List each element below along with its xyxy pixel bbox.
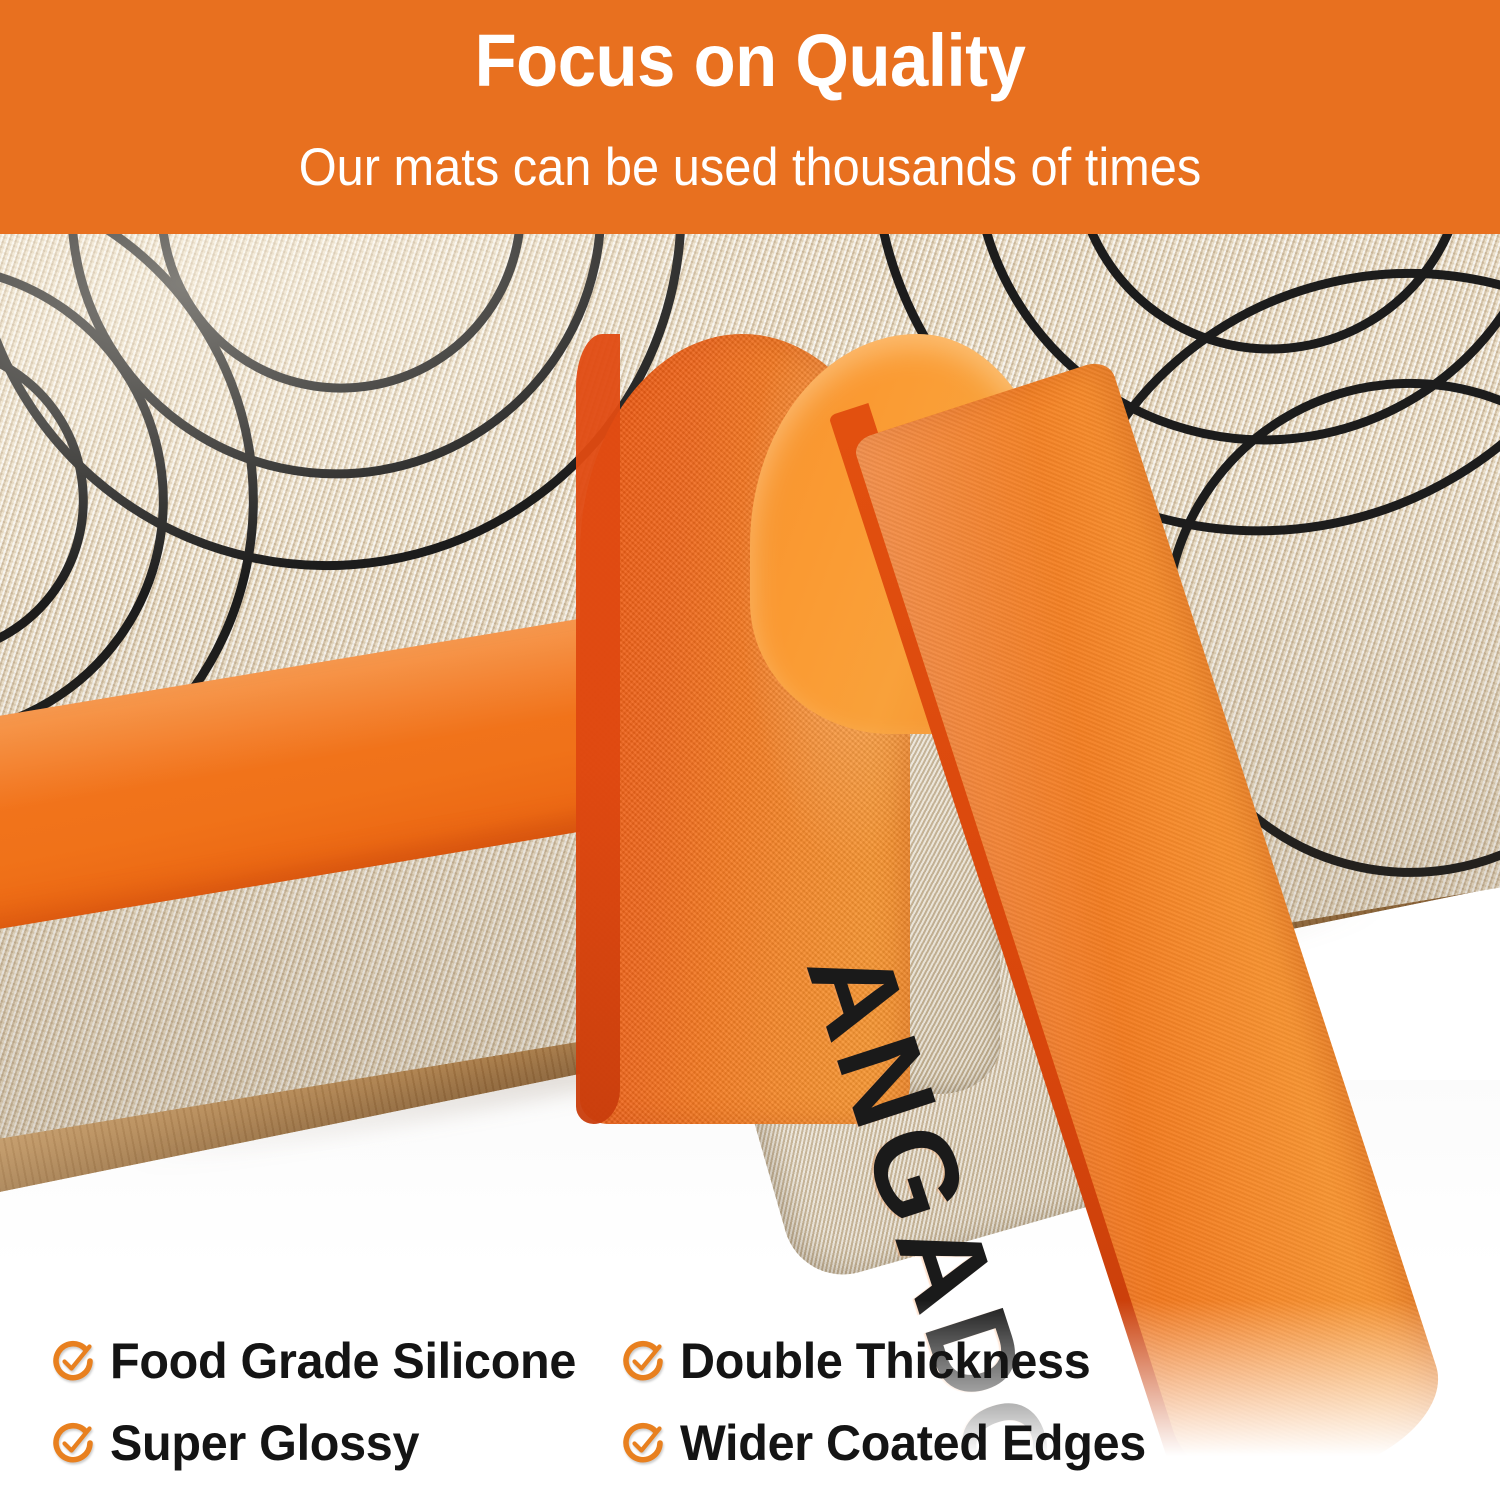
feature-item-wider-coated-edges: Wider Coated Edges [622, 1416, 1160, 1470]
check-circle-icon [622, 1422, 664, 1464]
feature-list: Food Grade Silicone Double Thickness Sup… [0, 1332, 1500, 1500]
product-photo: ANGADO [0, 234, 1500, 1500]
curl-rim [576, 334, 620, 1124]
check-circle-icon [622, 1340, 664, 1382]
check-circle-icon [52, 1340, 94, 1382]
feature-item-double-thickness: Double Thickness [622, 1334, 1103, 1388]
page-title: Focus on Quality [53, 18, 1448, 104]
feature-label: Super Glossy [110, 1416, 419, 1470]
product-feature-image: Focus on Quality Our mats can be used th… [0, 0, 1500, 1500]
feature-label: Food Grade Silicone [110, 1334, 576, 1388]
feature-item-super-glossy: Super Glossy [52, 1416, 429, 1470]
feature-label: Wider Coated Edges [680, 1416, 1146, 1470]
check-circle-icon [52, 1422, 94, 1464]
feature-item-food-grade-silicone: Food Grade Silicone [52, 1334, 590, 1388]
header-banner: Focus on Quality Our mats can be used th… [0, 0, 1500, 234]
feature-label: Double Thickness [680, 1334, 1090, 1388]
page-subtitle: Our mats can be used thousands of times [60, 136, 1440, 200]
